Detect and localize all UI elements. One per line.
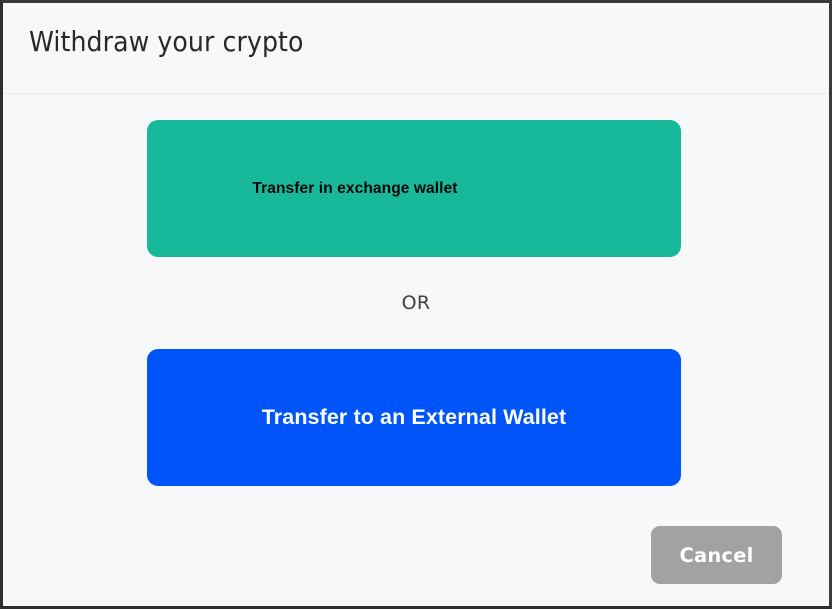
or-divider-label: OR bbox=[3, 292, 829, 314]
cancel-button[interactable]: Cancel bbox=[651, 526, 782, 584]
transfer-in-exchange-wallet-button[interactable]: Transfer in exchange wallet bbox=[147, 120, 681, 257]
transfer-in-exchange-wallet-label: Transfer in exchange wallet bbox=[147, 120, 681, 257]
transfer-to-external-wallet-button[interactable]: Transfer to an External Wallet bbox=[147, 349, 681, 486]
dialog-footer: Cancel bbox=[3, 515, 829, 605]
transfer-to-external-wallet-label: Transfer to an External Wallet bbox=[147, 349, 681, 486]
page-title: Withdraw your crypto bbox=[29, 25, 304, 58]
dialog-header: Withdraw your crypto bbox=[3, 3, 829, 94]
dialog-body: Transfer in exchange wallet OR Transfer … bbox=[3, 95, 829, 606]
withdraw-crypto-dialog: Withdraw your crypto Transfer in exchang… bbox=[0, 0, 832, 609]
